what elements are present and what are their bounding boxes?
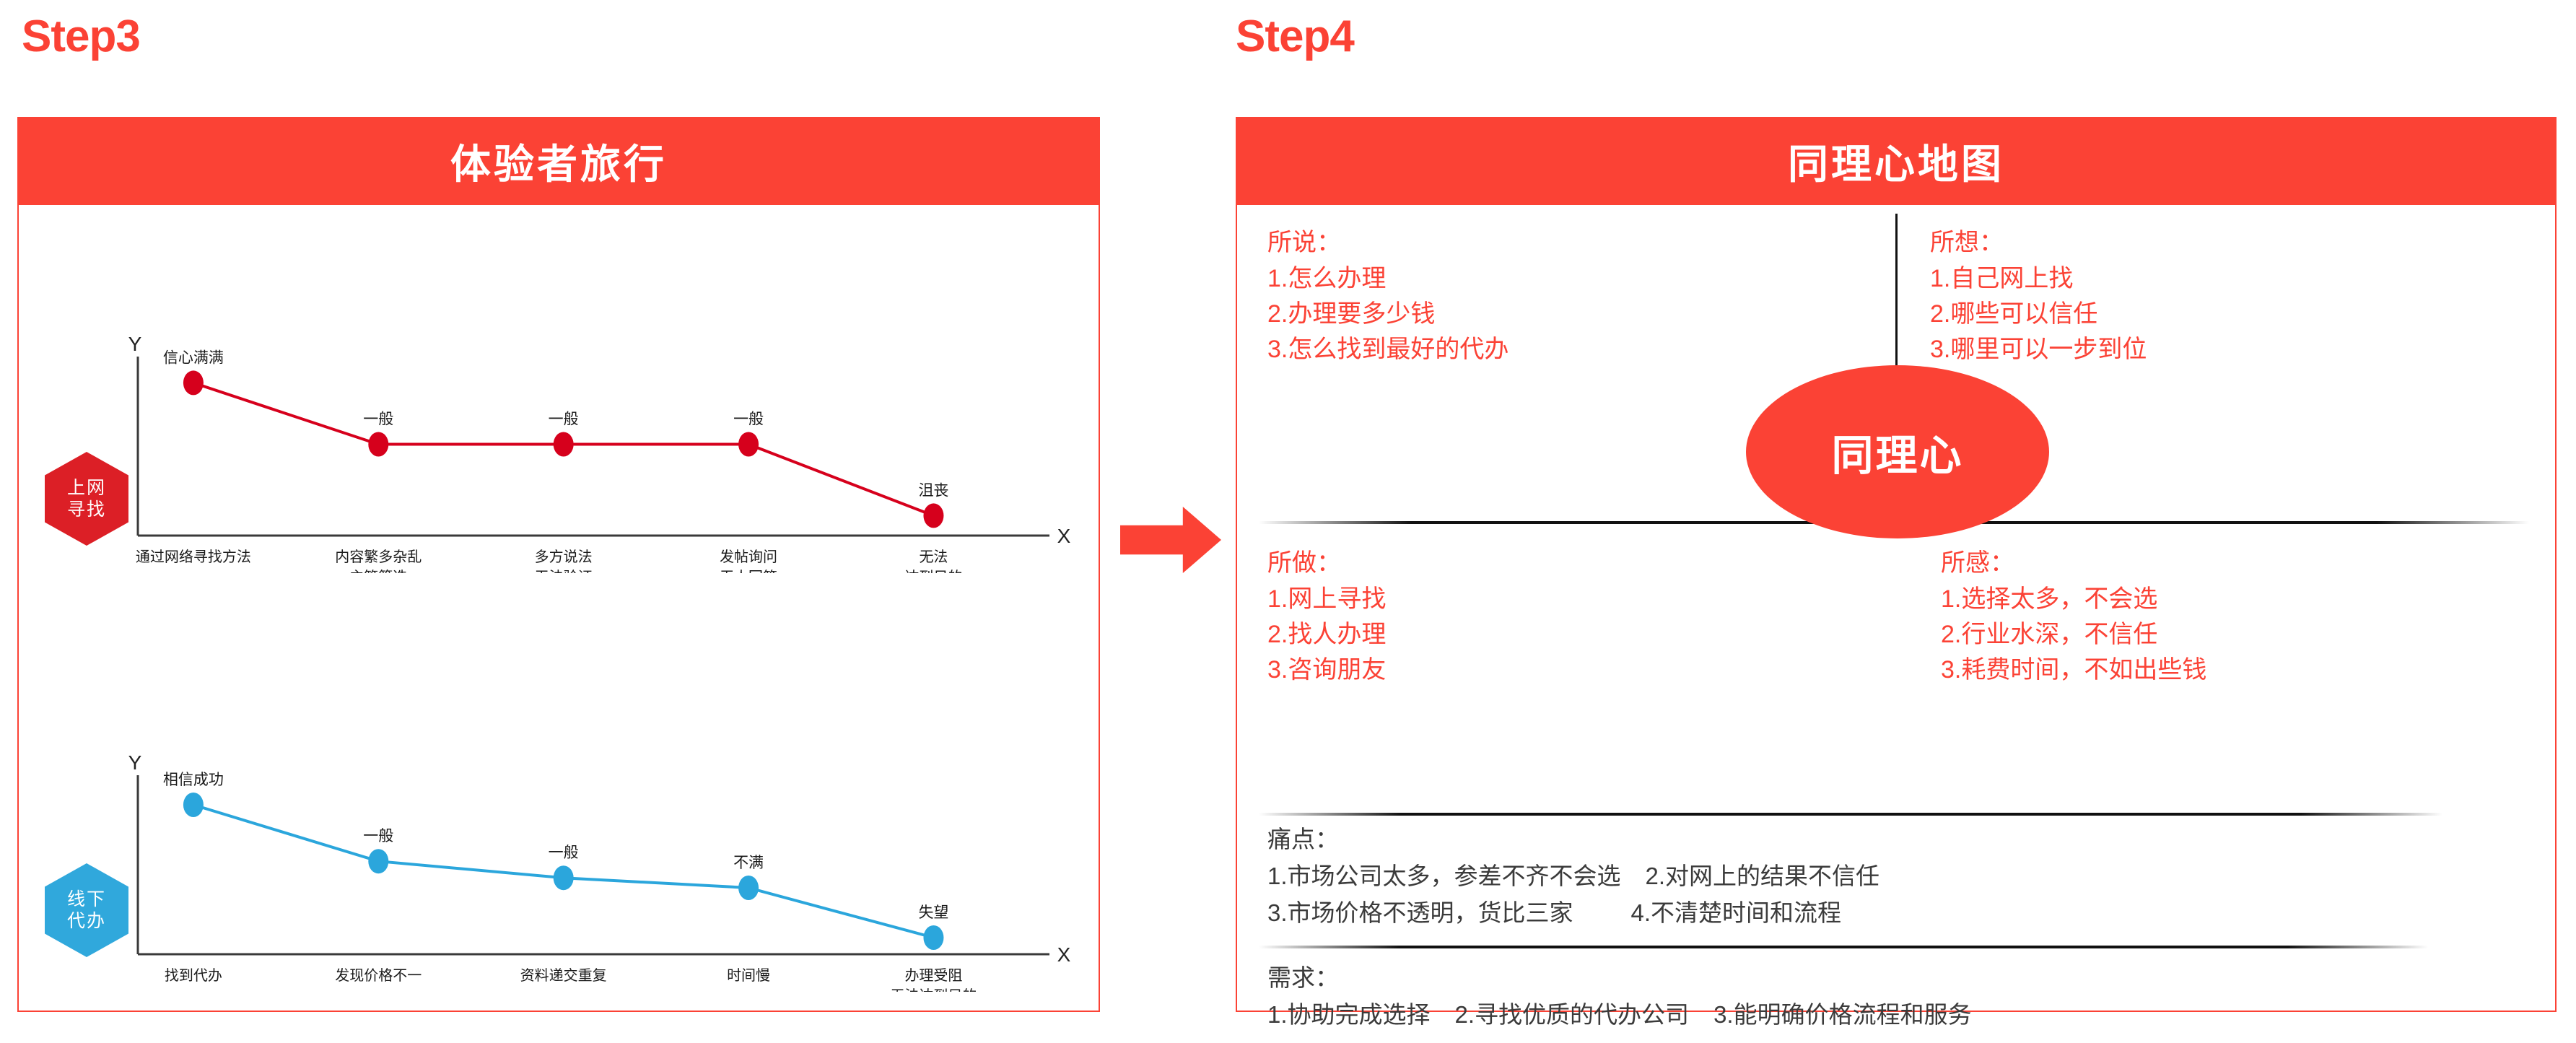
y-axis-label: Y [128, 754, 142, 774]
chart-category-label: 资料递交重复 [520, 967, 607, 984]
quadrant-say-item-2: 2.办理要多少钱 [1267, 297, 1509, 332]
quadrant-say-item-1: 1.怎么办理 [1267, 261, 1509, 297]
need-2: 2.寻找优质的代办公司 [1455, 1001, 1690, 1028]
chart-category-label: 无法验证 [535, 569, 593, 573]
needs-row-1: 1.协助完成选择2.寻找优质的代办公司3.能明确价格流程和服务 [1267, 996, 1972, 1033]
chart-point [183, 370, 204, 395]
quadrant-do-item-2: 2.找人办理 [1267, 617, 1386, 653]
quadrant-think-item-2: 2.哪些可以信任 [1930, 297, 2147, 332]
pain-points-row-1: 1.市场公司太多，参差不齐不会选2.对网上的结果不信任 [1267, 857, 1879, 894]
pain-points-row-2: 3.市场价格不透明，货比三家4.不清楚时间和流程 [1267, 894, 1879, 931]
quadrant-think-item-3: 3.哪里可以一步到位 [1930, 332, 2147, 367]
step4-label: Step4 [1236, 14, 1354, 59]
chart-category-label: 通过网络寻找方法 [136, 549, 251, 565]
pain-point-1: 1.市场公司太多，参差不齐不会选 [1267, 863, 1621, 889]
empathy-map-body: 同理心 所说： 1.怎么办理 2.办理要多少钱 3.怎么找到最好的代办 所想： … [1237, 206, 2555, 1011]
needs-heading: 需求： [1267, 960, 1972, 996]
chart-svg: 相信成功一般一般不满失望找到代办发现价格不一资料递交重复时间慢办理受阻无法达到目… [98, 754, 1094, 992]
chart-point [738, 876, 759, 900]
quadrant-think: 所想： 1.自己网上找 2.哪些可以信任 3.哪里可以一步到位 [1930, 225, 2147, 367]
empathy-divider-horizontal-mid [1259, 813, 2442, 816]
experience-journey-header: 体验者旅行 [17, 117, 1100, 205]
x-axis-label: X [1057, 943, 1071, 966]
quadrant-say-item-3: 3.怎么找到最好的代办 [1267, 332, 1509, 367]
chart-category-label: 时间慢 [727, 967, 770, 984]
chart-point-label: 一般 [363, 411, 393, 428]
chart-point [368, 432, 388, 457]
chart-point-label: 相信成功 [163, 772, 224, 788]
quadrant-feel-item-1: 1.选择太多，不会选 [1941, 582, 2206, 617]
empathy-map-title: 同理心地图 [1788, 132, 2004, 191]
chart-point-label: 信心满满 [163, 349, 224, 366]
quadrant-feel-heading: 所感： [1941, 546, 2206, 580]
quadrant-say: 所说： 1.怎么办理 2.办理要多少钱 3.怎么找到最好的代办 [1267, 225, 1509, 367]
y-axis-label: Y [128, 335, 142, 355]
chart-point-label: 一般 [363, 828, 393, 845]
quadrant-think-heading: 所想： [1930, 225, 2147, 260]
need-1: 1.协助完成选择 [1267, 1001, 1431, 1028]
chart-point [554, 865, 574, 890]
chart-point [554, 432, 574, 457]
quadrant-think-item-1: 1.自己网上找 [1930, 261, 2147, 297]
chart-point-label: 一般 [549, 845, 579, 861]
pain-points-block: 痛点： 1.市场公司太多，参差不齐不会选2.对网上的结果不信任 3.市场价格不透… [1267, 821, 1879, 931]
chart-point-label: 不满 [733, 855, 764, 871]
chart-svg: 信心满满一般一般一般沮丧通过网络寻找方法内容繁多杂乱主管筛选多方说法无法验证发帖… [98, 335, 1094, 573]
quadrant-feel-item-2: 2.行业水深，不信任 [1941, 617, 2206, 653]
chart-point-label: 一般 [549, 411, 579, 428]
empathy-map-panel: 同理心地图 同理心 所说： 1.怎么办理 2.办理要多少钱 3.怎么找到最好的代… [1236, 117, 2557, 1012]
empathy-divider-horizontal-bottom [1259, 946, 2428, 948]
chart-category-label: 发现价格不一 [335, 967, 422, 984]
right-arrow-icon [1120, 507, 1221, 573]
chart-point [368, 849, 388, 873]
chart-category-label: 多方说法 [535, 549, 593, 565]
chart-category-label: 达到目的 [904, 569, 962, 573]
chart-point [923, 503, 943, 528]
chart-point [183, 793, 204, 817]
chart-category-label: 找到代办 [165, 967, 222, 984]
chart-category-label: 主管筛选 [349, 569, 407, 573]
chart-category-label: 发帖询问 [720, 549, 777, 565]
pain-points-heading: 痛点： [1267, 821, 1879, 857]
empathy-center-ellipse: 同理心 [1746, 365, 2049, 538]
chart-category-label: 内容繁多杂乱 [335, 549, 422, 565]
chart-point [923, 925, 943, 950]
experience-journey-panel: 体验者旅行 上网 寻找 线下 代办 信心满满一般一般一般沮丧通过网络寻找方法内容… [17, 117, 1100, 1012]
quadrant-say-heading: 所说： [1267, 225, 1509, 260]
need-3: 3.能明确价格流程和服务 [1713, 1001, 1972, 1028]
chart-category-label: 办理受阻 [904, 967, 962, 984]
pain-point-4: 4.不清楚时间和流程 [1631, 899, 1842, 926]
quadrant-do-item-1: 1.网上寻找 [1267, 582, 1386, 617]
chart-category-label: 无人回答 [720, 569, 777, 573]
chart-point-label: 沮丧 [918, 482, 948, 499]
chart-point-label: 失望 [918, 904, 948, 921]
pain-point-3: 3.市场价格不透明，货比三家 [1267, 899, 1573, 926]
experience-journey-title: 体验者旅行 [450, 132, 667, 191]
quadrant-do-item-3: 3.咨询朋友 [1267, 653, 1386, 688]
quadrant-do-heading: 所做： [1267, 546, 1386, 580]
pain-point-2: 2.对网上的结果不信任 [1646, 863, 1880, 889]
x-axis-label: X [1057, 525, 1071, 547]
step3-label: Step3 [22, 14, 140, 59]
chart-category-label: 无法 [919, 549, 948, 565]
empathy-center-label: 同理心 [1831, 422, 1963, 482]
chart-online-search-journey: 信心满满一般一般一般沮丧通过网络寻找方法内容繁多杂乱主管筛选多方说法无法验证发帖… [98, 335, 1094, 573]
chart-offline-agency-journey: 相信成功一般一般不满失望找到代办发现价格不一资料递交重复时间慢办理受阻无法达到目… [98, 754, 1094, 992]
empathy-map-header: 同理心地图 [1236, 117, 2557, 205]
quadrant-do: 所做： 1.网上寻找 2.找人办理 3.咨询朋友 [1267, 546, 1386, 688]
chart-category-label: 无法达到目的 [890, 987, 977, 992]
chart-point [738, 432, 759, 457]
chart-point-label: 一般 [733, 411, 764, 428]
quadrant-feel-item-3: 3.耗费时间，不如出些钱 [1941, 653, 2206, 688]
quadrant-feel: 所感： 1.选择太多，不会选 2.行业水深，不信任 3.耗费时间，不如出些钱 [1941, 546, 2206, 688]
needs-block: 需求： 1.协助完成选择2.寻找优质的代办公司3.能明确价格流程和服务 [1267, 960, 1972, 1033]
